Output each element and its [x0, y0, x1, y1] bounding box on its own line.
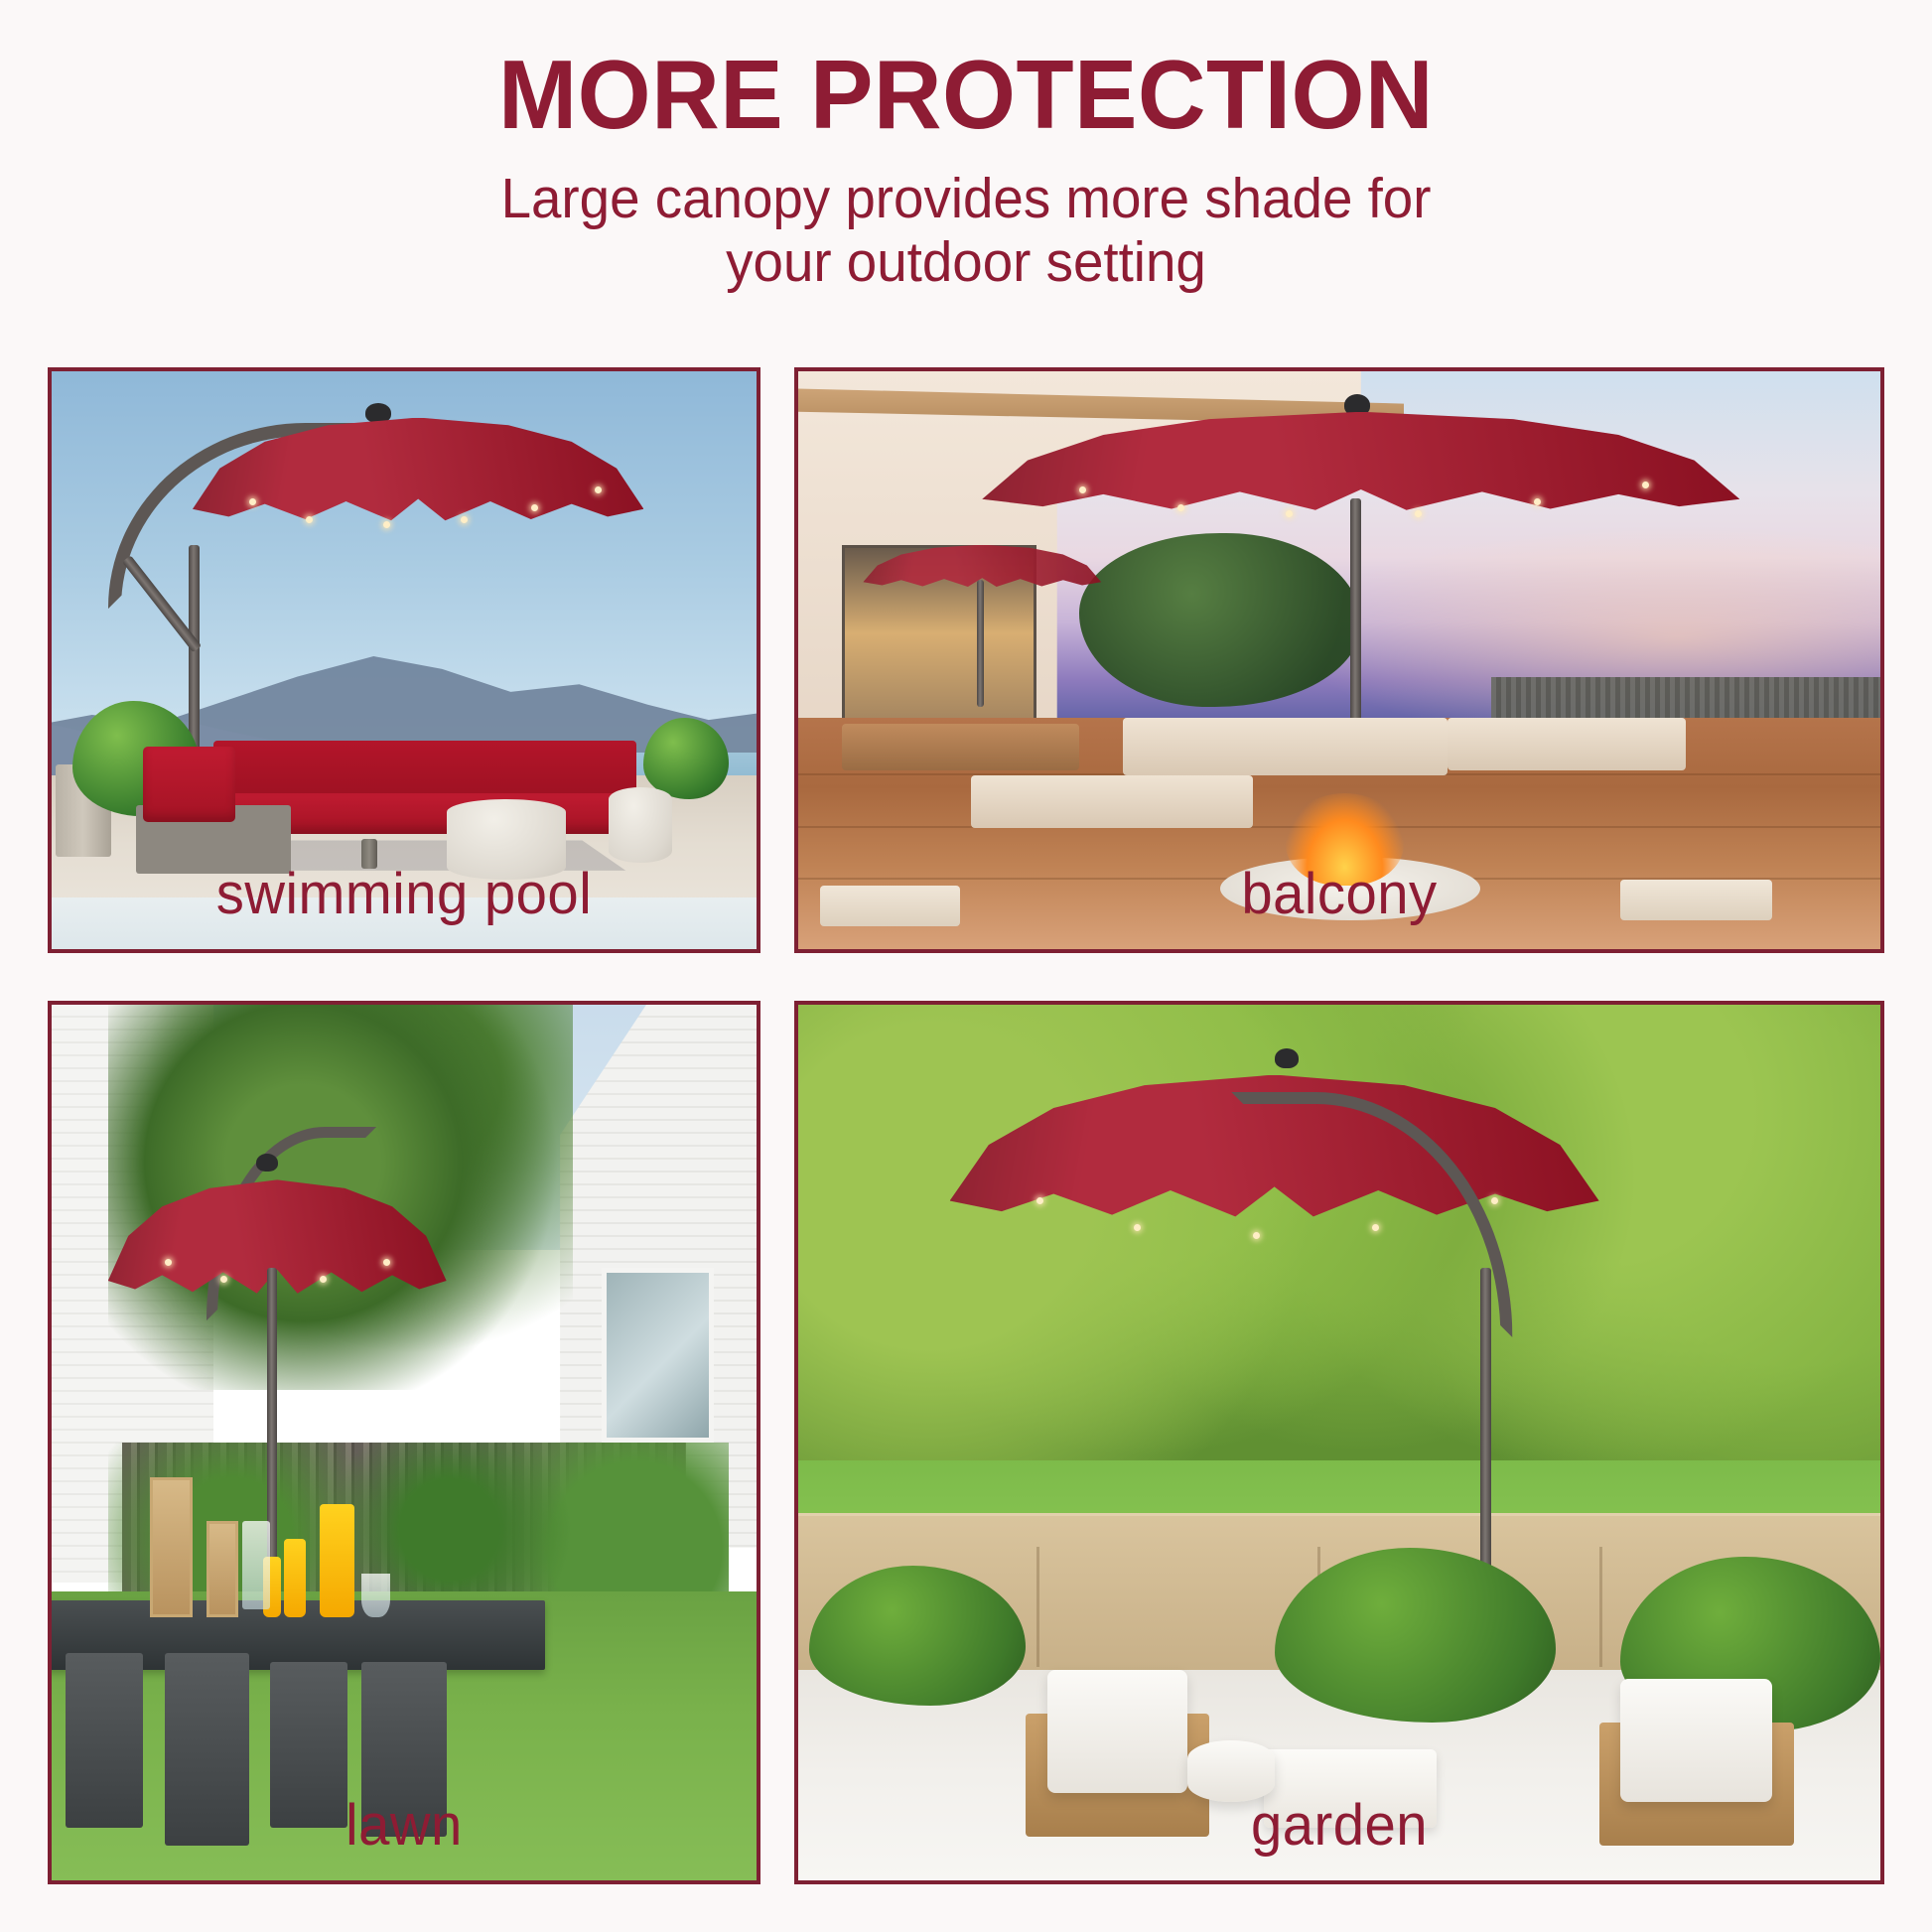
umbrella-solar-finial	[256, 1154, 278, 1172]
stool	[609, 787, 672, 863]
juice-pitcher	[320, 1504, 355, 1618]
canopy-led-light	[306, 516, 313, 523]
subtitle-line-1: Large canopy provides more shade for	[39, 167, 1893, 230]
canopy-led-light	[1286, 510, 1293, 517]
glass-pitcher	[242, 1521, 270, 1608]
tree	[1079, 533, 1360, 707]
wooden-lantern-large	[150, 1477, 193, 1617]
wall-seam	[1036, 1547, 1039, 1667]
shrub-right	[643, 718, 728, 798]
canopy-led-light	[1642, 482, 1649, 488]
scene-garden	[798, 1005, 1880, 1880]
wall-seam	[1599, 1547, 1602, 1667]
armchair-left	[1047, 1670, 1188, 1792]
dining-chairs	[842, 724, 1080, 770]
lounge-sofa	[1123, 718, 1448, 775]
subtitle-line-2: your outdoor setting	[39, 230, 1893, 294]
armchair-right	[1620, 1679, 1772, 1801]
header: MORE PROTECTION Large canopy provides mo…	[0, 0, 1932, 295]
panel-garden[interactable]: garden	[794, 1001, 1884, 1884]
canopy-led-light	[249, 498, 256, 505]
panel-caption: swimming pool	[63, 861, 747, 927]
canopy-led-light	[1134, 1224, 1141, 1231]
house-window	[602, 1268, 715, 1443]
armchair-cushion	[143, 747, 234, 822]
lounge-chairs-right	[1448, 718, 1686, 769]
panel-lawn[interactable]: lawn	[48, 1001, 760, 1884]
page-subtitle: Large canopy provides more shade for you…	[39, 167, 1893, 295]
marketing-infographic: MORE PROTECTION Large canopy provides mo…	[0, 0, 1932, 1932]
juice-bottle	[284, 1539, 305, 1617]
canopy-led-light	[165, 1259, 172, 1266]
canopy-led-light	[1036, 1197, 1043, 1204]
panel-caption: garden	[814, 1792, 1863, 1859]
umbrella-solar-finial	[1275, 1048, 1299, 1068]
canopy-led-light	[383, 521, 390, 528]
canopy-led-light	[461, 516, 468, 523]
panel-caption: balcony	[814, 861, 1863, 927]
page-title: MORE PROTECTION	[29, 46, 1903, 143]
panel-swimming-pool[interactable]: swimming pool	[48, 367, 760, 953]
scene-lawn	[52, 1005, 757, 1880]
canopy-led-light	[1177, 504, 1184, 511]
canopy-led-light	[1372, 1224, 1379, 1231]
daybed	[971, 775, 1252, 827]
canopy-led-light	[1415, 510, 1422, 517]
umbrella-pole-secondary	[977, 580, 984, 707]
canopy-led-light	[531, 504, 538, 511]
scene-grid: swimming pool	[48, 367, 1884, 1884]
canopy-led-light	[1491, 1197, 1498, 1204]
fruit-bowl	[361, 1574, 389, 1617]
wooden-lantern-small	[207, 1521, 238, 1617]
umbrella-solar-finial	[365, 403, 391, 423]
canopy-led-light	[383, 1259, 390, 1266]
panel-balcony[interactable]: balcony	[794, 367, 1884, 953]
panel-caption: lawn	[63, 1792, 747, 1859]
